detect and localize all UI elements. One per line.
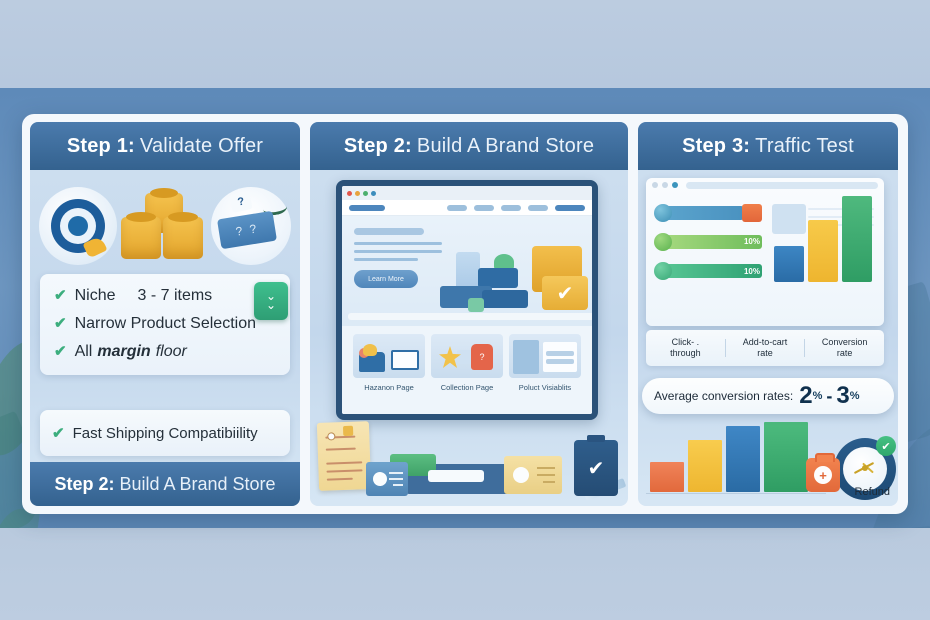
card-1-footer-title: Build A Brand Store — [119, 474, 275, 495]
hero-section: Learn More ✔ — [342, 216, 592, 334]
checklist-item-label: All — [75, 343, 93, 361]
checklist-item[interactable]: ✔ Narrow Product Selection — [54, 314, 276, 333]
product-shape — [478, 268, 518, 288]
thumbnail-caption: Poluct Visiablits — [519, 383, 571, 392]
checklist-item-label: Narrow Product Selection — [75, 315, 256, 333]
window-dot-icon — [672, 182, 678, 188]
card-1-footer[interactable]: Step 2: Build A Brand Store — [30, 462, 300, 506]
metric-line-1: Click- . — [646, 337, 725, 348]
metric-line-2: rate — [805, 348, 884, 359]
progress-value — [742, 204, 762, 222]
refund-kit-icon: + — [806, 458, 840, 492]
progress-knob — [654, 204, 672, 222]
thumb-shape — [543, 342, 577, 372]
card-1-header: Step 1: Validate Offer — [30, 122, 300, 170]
hero-text-placeholder — [354, 250, 442, 253]
metric-line-1: Add-to-cart — [726, 337, 805, 348]
card-3-header-prefix: Step 3: — [682, 135, 750, 158]
search-input[interactable] — [686, 182, 878, 189]
maximize-dot-icon — [363, 191, 368, 196]
nav-item-placeholder[interactable] — [528, 205, 548, 211]
minimize-dot-icon — [355, 191, 360, 196]
progress-fill — [662, 206, 744, 220]
thumbnail-caption: Hazanon Page — [364, 383, 414, 392]
nav-cta-placeholder[interactable] — [555, 205, 585, 211]
window-dot-icon — [652, 182, 658, 188]
check-icon: ✔ — [54, 342, 67, 360]
card-3-body: 10% 10% — [638, 170, 898, 506]
business-card-icon — [504, 456, 562, 494]
thumb-shape — [513, 340, 539, 374]
card-1-illustration-row: ? ? ? — [30, 178, 300, 273]
analytics-content: 10% 10% — [646, 192, 884, 292]
chart-placeholder-shape — [772, 204, 806, 234]
page-thumbnail-row: Hazanon Page ? Collection Page — [342, 326, 592, 414]
average-conversion-low: 2 — [799, 382, 812, 410]
price-tag-value: ? ? — [217, 210, 277, 248]
shelf-shape — [348, 313, 598, 320]
browser-titlebar — [342, 186, 592, 200]
tshirt-icon: ? — [471, 344, 493, 370]
card-3-header: Step 3: Traffic Test — [638, 122, 898, 170]
thumb-shape — [363, 344, 377, 356]
thumbnail-collection-page[interactable]: ? Collection Page — [431, 334, 503, 410]
metric-conversion: Conversion rate — [805, 337, 884, 359]
metric-line-2: rate — [726, 348, 805, 359]
price-tag-question: ? — [229, 191, 252, 213]
chart-bar — [842, 196, 872, 282]
fast-shipping-label: Fast Shipping Compatibiility — [73, 425, 258, 442]
window-dot-icon — [662, 182, 668, 188]
analytics-panel-titlebar — [646, 178, 884, 192]
thumb-shape — [546, 359, 574, 364]
metric-add-to-cart: Add-to-cart rate — [726, 337, 805, 359]
card-step-3[interactable]: Step 3: Traffic Test — [638, 122, 898, 506]
product-boxes-icon — [119, 191, 209, 261]
chart-bar — [726, 426, 760, 492]
verified-package-icon: ✔ — [542, 276, 588, 310]
background-top-band — [0, 0, 930, 88]
thumbnail-product-visibility[interactable]: Poluct Visiablits — [509, 334, 581, 410]
average-conversion-high: 3 — [836, 382, 849, 410]
hero-text-placeholder — [354, 242, 442, 245]
learn-more-button[interactable]: Learn More — [354, 270, 418, 288]
steps-panel: Step 1: Validate Offer ? ? ? — [22, 114, 908, 514]
check-icon: ✔ — [52, 424, 65, 442]
card-3-header-title: Traffic Test — [755, 135, 854, 158]
progress-bar-add-to-cart[interactable]: 10% — [654, 233, 762, 251]
id-card-icon — [366, 462, 408, 496]
average-conversion-label: Average conversion rates: — [654, 389, 793, 403]
validation-checklist: ✔ Niche 3 - 7 items ✔ Narrow Product Sel… — [40, 274, 290, 375]
chart-bar — [774, 246, 804, 282]
gauge-center-dot — [862, 465, 868, 471]
card-2-header-prefix: Step 2: — [344, 135, 412, 158]
browser-navbar — [342, 200, 592, 216]
box-shape — [163, 217, 203, 259]
hero-product-illustration: ✔ — [438, 234, 588, 318]
progress-value: 10% — [742, 233, 762, 251]
check-icon: ✔ — [54, 314, 67, 332]
fast-shipping-row[interactable]: ✔ Fast Shipping Compatibiility — [40, 410, 290, 456]
average-conversion-banner: Average conversion rates: 2 % - 3 % — [642, 378, 894, 414]
nav-item-placeholder[interactable] — [447, 205, 467, 211]
refund-label: Refund — [855, 486, 890, 498]
checklist-item[interactable]: ✔ Niche 3 - 7 items — [54, 286, 276, 305]
hero-heading-placeholder — [354, 228, 424, 235]
card-step-2[interactable]: Step 2: Build A Brand Store — [310, 122, 628, 506]
white-paper-icon — [428, 470, 484, 482]
store-logo-placeholder — [349, 205, 385, 211]
store-browser-mockup[interactable]: Learn More ✔ — [336, 180, 598, 420]
box-shape — [121, 217, 161, 259]
card-1-footer-prefix: Step 2: — [54, 474, 114, 495]
check-icon: ✔ — [54, 286, 67, 304]
metric-line-1: Conversion — [805, 337, 884, 348]
thumb-shape — [546, 351, 574, 356]
extra-dot-icon — [371, 191, 376, 196]
chart-bar — [808, 220, 838, 282]
average-conversion-dash: - — [826, 386, 832, 407]
card-1-body: ? ? ? ✔ Niche 3 - 7 items ✔ Narrow Produ… — [30, 170, 300, 506]
hero-text-placeholder — [354, 258, 418, 261]
metric-click-through: Click- . through — [646, 337, 725, 359]
progress-knob — [654, 233, 672, 251]
chart-bar — [688, 440, 722, 492]
thumbnail-image: ? — [431, 334, 503, 378]
metric-labels-row: Click- . through Add-to-cart rate Conver… — [646, 330, 884, 366]
progress-value: 10% — [742, 262, 762, 280]
documents-illustration: ✔ — [310, 410, 628, 506]
thumbnail-homepage[interactable]: Hazanon Page — [353, 334, 425, 410]
thumbnail-image — [353, 334, 425, 378]
average-conversion-low-unit: % — [813, 390, 823, 402]
chart-axis — [646, 493, 826, 494]
progress-bar-conversion[interactable]: 10% — [654, 262, 762, 280]
product-shape — [482, 290, 528, 308]
card-2-header-title: Build A Brand Store — [417, 135, 594, 158]
chart-bar — [650, 462, 684, 492]
card-1-header-title: Validate Offer — [140, 135, 263, 158]
card-2-header: Step 2: Build A Brand Store — [310, 122, 628, 170]
progress-bars-group: 10% 10% — [654, 198, 762, 286]
checklist-item-emphasis: margin — [97, 343, 150, 361]
close-dot-icon — [347, 191, 352, 196]
card-step-1[interactable]: Step 1: Validate Offer ? ? ? — [30, 122, 300, 506]
checklist-item-value: 3 - 7 items — [137, 287, 212, 305]
nav-item-placeholder[interactable] — [474, 205, 494, 211]
progress-bar-click-through[interactable] — [654, 204, 762, 222]
clipboard-check-icon: ✔ — [574, 440, 618, 496]
checklist-item-label: Niche — [75, 287, 116, 305]
plus-icon: + — [814, 466, 832, 484]
approve-badge-button[interactable]: ⌄ ⌄ — [254, 282, 288, 320]
gauge-check-icon: ✔ — [876, 436, 896, 456]
target-icon — [39, 187, 117, 265]
product-shape — [468, 298, 484, 312]
card-2-body: Learn More ✔ — [310, 170, 628, 506]
card-1-header-prefix: Step 1: — [67, 135, 135, 158]
thumbnail-caption: Collection Page — [441, 383, 494, 392]
analytics-panel[interactable]: 10% 10% — [646, 178, 884, 326]
chart-bar — [764, 422, 808, 492]
thumbnail-image — [509, 334, 581, 378]
mini-bar-chart — [772, 198, 876, 286]
chevron-down-icon: ⌄ — [266, 301, 276, 310]
checklist-item[interactable]: ✔ All margin floor — [54, 342, 276, 361]
average-conversion-high-unit: % — [850, 390, 860, 402]
price-tag-icon: ? ? ? — [211, 187, 291, 265]
background-bottom-band — [0, 528, 930, 620]
checklist-paper-icon — [317, 421, 371, 491]
metric-line-2: through — [646, 348, 725, 359]
thumb-shape — [391, 350, 419, 370]
nav-item-placeholder[interactable] — [501, 205, 521, 211]
checklist-item-emphasis-2: floor — [156, 343, 187, 361]
